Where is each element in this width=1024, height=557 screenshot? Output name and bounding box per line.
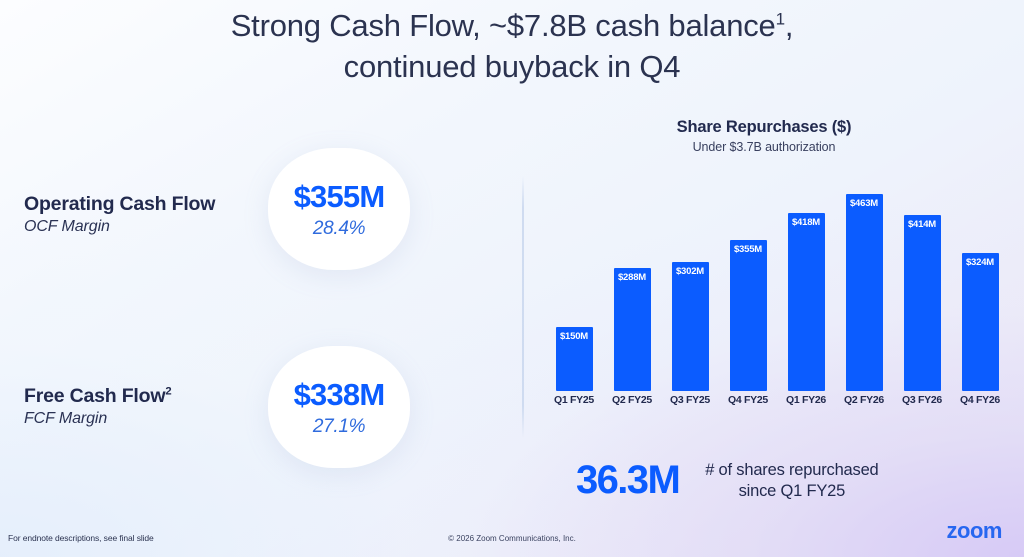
bar-column: $150M [552, 178, 596, 391]
bar-series: $150M$288M$302M$355M$418M$463M$414M$324M [552, 178, 1002, 391]
bar: $463M [846, 194, 883, 391]
bar-column: $463M [842, 178, 886, 391]
x-axis-tick-label: Q4 FY25 [726, 394, 770, 406]
title-superscript-1: 1 [776, 10, 785, 29]
metric-label-free-cash-flow: Free Cash Flow2 FCF Margin [24, 385, 171, 428]
chart-subtitle: Under $3.7B authorization [544, 140, 984, 154]
bar-value-label: $302M [676, 266, 704, 277]
metric-name-text: Free Cash Flow [24, 385, 165, 407]
shares-description-line-2: since Q1 FY25 [739, 482, 846, 500]
metric-percent: 27.1% [313, 416, 365, 438]
bar: $150M [556, 327, 593, 391]
copyright-text: © 2026 Zoom Communications, Inc. [0, 534, 1024, 543]
x-axis-tick-label: Q4 FY26 [958, 394, 1002, 406]
shares-count: 36.3M [576, 458, 679, 503]
section-divider [522, 176, 524, 438]
metric-name: Operating Cash Flow [24, 193, 215, 216]
bar-value-label: $355M [734, 244, 762, 255]
bar: $355M [730, 240, 767, 391]
x-axis-labels: Q1 FY25Q2 FY25Q3 FY25Q4 FY25Q1 FY26Q2 FY… [552, 394, 1002, 418]
zoom-logo: zoom [947, 518, 1002, 544]
shares-repurchased-callout: 36.3M # of shares repurchased since Q1 F… [576, 458, 1006, 503]
bar-column: $355M [726, 178, 770, 391]
metric-name-text: Operating Cash Flow [24, 193, 215, 215]
x-axis-tick-label: Q3 FY26 [900, 394, 944, 406]
metric-value: $355M [294, 179, 385, 215]
metric-percent: 28.4% [313, 218, 365, 240]
bar-value-label: $414M [908, 219, 936, 230]
shares-description: # of shares repurchased since Q1 FY25 [705, 460, 878, 501]
x-axis-tick-label: Q2 FY25 [610, 394, 654, 406]
x-axis-tick-label: Q1 FY25 [552, 394, 596, 406]
bar-column: $414M [900, 178, 944, 391]
x-axis-tick-label: Q2 FY26 [842, 394, 886, 406]
x-axis-tick-label: Q1 FY26 [784, 394, 828, 406]
bar: $414M [904, 215, 941, 391]
share-repurchases-chart: Share Repurchases ($) Under $3.7B author… [530, 118, 1024, 428]
bar: $418M [788, 213, 825, 391]
metric-bubble-operating-cash-flow: $355M 28.4% [268, 148, 410, 270]
bar-value-label: $150M [560, 331, 588, 342]
metric-sublabel: OCF Margin [24, 218, 215, 236]
metric-value: $338M [294, 377, 385, 413]
bar-column: $302M [668, 178, 712, 391]
bar: $288M [614, 268, 651, 391]
metric-sublabel: FCF Margin [24, 410, 171, 428]
bar-value-label: $288M [618, 272, 646, 283]
x-axis-tick-label: Q3 FY25 [668, 394, 712, 406]
shares-description-line-1: # of shares repurchased [705, 461, 878, 479]
bar-column: $418M [784, 178, 828, 391]
bar: $324M [962, 253, 999, 391]
slide: Strong Cash Flow, ~$7.8B cash balance1, … [0, 0, 1024, 557]
metric-name: Free Cash Flow2 [24, 385, 171, 408]
metric-superscript: 2 [165, 386, 171, 398]
metrics-panel: Operating Cash Flow OCF Margin $355M 28.… [0, 0, 520, 557]
metric-bubble-free-cash-flow: $338M 27.1% [268, 346, 410, 468]
chart-plot-area: $150M$288M$302M$355M$418M$463M$414M$324M… [552, 178, 1002, 418]
bar-value-label: $463M [850, 198, 878, 209]
title-line-1-tail: , [785, 8, 793, 43]
bar-value-label: $418M [792, 217, 820, 228]
metric-label-operating-cash-flow: Operating Cash Flow OCF Margin [24, 193, 215, 236]
bar: $302M [672, 262, 709, 391]
bar-column: $324M [958, 178, 1002, 391]
bar-value-label: $324M [966, 257, 994, 268]
bar-column: $288M [610, 178, 654, 391]
chart-title: Share Repurchases ($) [544, 118, 984, 137]
